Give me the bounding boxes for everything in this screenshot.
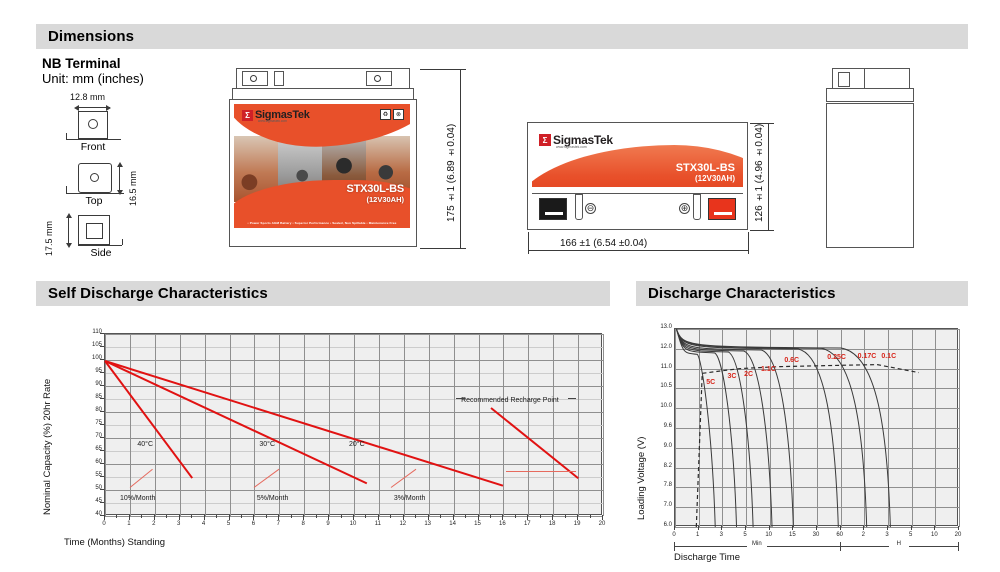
self-discharge-x-tick-label: 1 — [121, 521, 137, 527]
self-discharge-x-tick — [478, 515, 479, 520]
x-group-cap-1 — [840, 542, 841, 551]
rear-vent — [838, 72, 850, 87]
self-discharge-x-minor-tick — [341, 515, 342, 518]
terminal-top-hole — [90, 173, 99, 182]
x-group-cap-0 — [674, 542, 675, 551]
front-vent-left-hole — [250, 75, 257, 82]
self-discharge-y-tick — [100, 502, 104, 503]
section-title-dimensions: Dimensions — [36, 28, 134, 45]
battery-side-view: Σ SigmasTek www.sigmastek.com STX30L-BS … — [527, 122, 748, 230]
self-discharge-x-tick-label: 14 — [445, 521, 461, 527]
self-discharge-x-tick-label: 18 — [544, 521, 560, 527]
self-discharge-y-tick — [100, 372, 104, 373]
terminal-top-base-line — [66, 193, 124, 194]
self-discharge-x-tick-label: 9 — [320, 521, 336, 527]
nb-terminal-unit: Unit: mm (inches) — [42, 71, 144, 87]
self-discharge-y-tick — [100, 411, 104, 412]
terminal-height-label: 17.5 mm — [44, 210, 54, 256]
terminal-view-label-top: Top — [66, 195, 122, 207]
self-discharge-y-tick-label: 50 — [84, 485, 102, 491]
terminal-depth-dim-line — [119, 165, 120, 191]
self-discharge-x-tick-label: 7 — [270, 521, 286, 527]
discharge-curve-5C — [676, 329, 715, 527]
discharge-curve-2C — [676, 329, 753, 527]
discharge-label-0.17C: 0.17C — [858, 353, 877, 360]
terminal-front-base-edge — [66, 133, 67, 139]
terminal-front-hole — [88, 119, 98, 129]
self-discharge-y-tick-label: 75 — [84, 420, 102, 426]
front-vent-right-hole — [374, 75, 381, 82]
discharge-x-tick — [911, 526, 912, 530]
discharge-x-axis-title: Discharge Time — [674, 552, 740, 563]
discharge-chart: 5C3C2C1.1C0.6C0.25C0.17C0.1C Loading Vol… — [636, 320, 968, 570]
sigma-logo-icon-side: Σ — [539, 134, 551, 146]
positive-terminal-block — [708, 198, 736, 220]
discharge-x-tick-label: 15 — [783, 532, 801, 538]
self-discharge-plot-area: 40°C30°C20°C10%/Month5%/Month3%/MonthRec… — [104, 333, 602, 515]
self-discharge-x-tick-label: 10 — [345, 521, 361, 527]
front-rib — [274, 71, 284, 86]
self-discharge-x-tick — [428, 515, 429, 520]
discharge-y-tick-label: 6.0 — [648, 522, 672, 528]
self-discharge-y-tick-label: 105 — [84, 342, 102, 348]
front-height-dim-line — [460, 70, 461, 248]
self-discharge-x-tick — [378, 515, 379, 520]
self-discharge-gridline-x — [429, 334, 430, 516]
self-discharge-x-tick — [527, 515, 528, 520]
self-discharge-gridline-x — [503, 334, 504, 516]
recycle-icon: ♻ — [380, 109, 391, 120]
x-group-cap-2 — [958, 542, 959, 551]
discharge-x-tick — [816, 526, 817, 530]
discharge-x-tick — [721, 526, 722, 530]
side-post-left — [575, 194, 583, 220]
discharge-label-5C: 5C — [706, 379, 715, 386]
self-discharge-y-tick-label: 70 — [84, 433, 102, 439]
self-discharge-y-tick — [100, 450, 104, 451]
side-model-spec: (12V30AH) — [676, 174, 735, 183]
discharge-label-3C: 3C — [728, 373, 737, 380]
rear-collar — [826, 88, 914, 102]
self-discharge-chart: 40°C30°C20°C10%/Month5%/Month3%/MonthRec… — [36, 325, 610, 555]
self-discharge-x-minor-tick — [590, 515, 591, 518]
self-discharge-x-minor-tick — [216, 515, 217, 518]
discharge-x-tick-label: 10 — [760, 532, 778, 538]
self-discharge-x-tick — [253, 515, 254, 520]
self-discharge-gridline-x — [180, 334, 181, 516]
discharge-y-tick-label: 10.5 — [648, 383, 672, 389]
self-discharge-x-minor-tick — [515, 515, 516, 518]
self-discharge-x-tick — [303, 515, 304, 520]
self-discharge-x-minor-tick — [241, 515, 242, 518]
rate-leader-1 — [130, 469, 153, 488]
self-discharge-x-minor-tick — [415, 515, 416, 518]
discharge-y-axis-title: Loading Voltage (V) — [636, 350, 647, 520]
self-discharge-x-minor-tick — [465, 515, 466, 518]
side-post-right — [693, 194, 701, 220]
self-discharge-x-tick-label: 16 — [494, 521, 510, 527]
terminal-side-base-line — [78, 245, 122, 246]
recharge-pointer-line — [506, 471, 576, 472]
discharge-x-tick-label: 20 — [949, 532, 967, 538]
self-discharge-gridline-x — [279, 334, 280, 516]
discharge-x-tick — [887, 526, 888, 530]
self-discharge-x-minor-tick — [141, 515, 142, 518]
self-discharge-x-minor-tick — [266, 515, 267, 518]
self-discharge-gridline-x — [479, 334, 480, 516]
self-discharge-gridline-x — [130, 334, 131, 516]
self-discharge-annotation-2: 30°C — [259, 441, 275, 448]
self-discharge-x-tick-label: 17 — [519, 521, 535, 527]
discharge-label-0.25C: 0.25C — [827, 354, 846, 361]
self-discharge-y-tick — [100, 346, 104, 347]
section-header-discharge: Discharge Characteristics — [636, 281, 968, 306]
self-discharge-y-tick — [100, 463, 104, 464]
self-discharge-x-tick — [179, 515, 180, 520]
terminal-top-base-edge — [66, 186, 67, 193]
self-discharge-gridline-x — [553, 334, 554, 516]
self-discharge-gridline-x — [603, 334, 604, 516]
section-header-dimensions: Dimensions — [36, 24, 968, 49]
discharge-curves-layer — [675, 329, 959, 527]
self-discharge-y-tick-label: 100 — [84, 355, 102, 361]
front-brand-url: www.sigmastek.com — [258, 119, 287, 123]
discharge-curve-3C — [676, 329, 736, 527]
self-discharge-y-tick — [100, 398, 104, 399]
section-header-self-discharge: Self Discharge Characteristics — [36, 281, 610, 306]
side-shelf-line — [532, 193, 743, 194]
self-discharge-x-minor-tick — [365, 515, 366, 518]
self-discharge-y-tick-label: 65 — [84, 446, 102, 452]
self-discharge-y-tick-label: 90 — [84, 381, 102, 387]
nb-terminal-title: NB Terminal — [42, 56, 144, 71]
terminal-depth-arrow-up — [117, 162, 123, 167]
self-discharge-y-tick-label: 85 — [84, 394, 102, 400]
side-depth-dim-line — [768, 124, 769, 230]
discharge-y-tick-label: 7.0 — [648, 502, 672, 508]
terminal-side-base-edge — [122, 239, 123, 245]
self-discharge-y-axis-title: Nominal Capacity (%) 20hr Rate — [42, 339, 53, 515]
self-discharge-x-tick-label: 6 — [245, 521, 261, 527]
self-discharge-x-tick — [278, 515, 279, 520]
discharge-x-tick — [674, 526, 675, 530]
side-width-ext-right — [748, 232, 749, 254]
side-width-ext-left — [528, 232, 529, 254]
battery-rear-view — [824, 68, 916, 250]
battery-front-view: Σ SigmasTek www.sigmastek.com ♻ ⊗ STX30L… — [228, 68, 418, 250]
self-discharge-gridline-x — [155, 334, 156, 516]
discharge-gridline-y — [675, 527, 959, 528]
self-discharge-x-tick — [453, 515, 454, 520]
self-discharge-x-minor-tick — [440, 515, 441, 518]
self-discharge-x-tick — [353, 515, 354, 520]
self-discharge-x-tick — [129, 515, 130, 520]
negative-terminal-block — [539, 198, 567, 220]
front-product-label: Σ SigmasTek www.sigmastek.com ♻ ⊗ STX30L… — [234, 104, 410, 228]
self-discharge-x-tick-label: 4 — [196, 521, 212, 527]
self-discharge-x-minor-tick — [490, 515, 491, 518]
self-discharge-y-tick-label: 110 — [84, 329, 102, 335]
discharge-x-tick — [769, 526, 770, 530]
front-height-ext-bottom — [420, 248, 466, 249]
side-depth-ext-bottom — [750, 230, 774, 231]
self-discharge-y-tick — [100, 476, 104, 477]
side-model-number: STX30L-BS — [676, 162, 735, 174]
self-discharge-x-tick-label: 13 — [420, 521, 436, 527]
side-depth-label: 126 ±1 (4.96 ±0.04) — [754, 138, 765, 222]
discharge-x-tick-label: 10 — [925, 532, 943, 538]
nb-terminal-heading: NB Terminal Unit: mm (inches) — [42, 56, 144, 87]
front-height-label: 175 ±1 (6.89 ±0.04) — [446, 112, 457, 222]
self-discharge-y-tick — [100, 359, 104, 360]
self-discharge-x-minor-tick — [191, 515, 192, 518]
discharge-y-tick-label: 7.8 — [648, 482, 672, 488]
negative-terminal-bar — [545, 212, 563, 215]
self-discharge-y-tick — [100, 437, 104, 438]
side-model-block: STX30L-BS (12V30AH) — [676, 162, 735, 183]
self-discharge-x-tick-label: 3 — [171, 521, 187, 527]
terminal-view-label-side: Side — [74, 247, 128, 259]
self-discharge-x-tick — [502, 515, 503, 520]
discharge-x-tick-label: 0 — [665, 532, 683, 538]
self-discharge-x-minor-tick — [390, 515, 391, 518]
discharge-plot-area: 5C3C2C1.1C0.6C0.25C0.17C0.1C — [674, 328, 958, 526]
discharge-y-tick-label: 9.6 — [648, 423, 672, 429]
self-discharge-y-tick — [100, 385, 104, 386]
self-discharge-y-tick-label: 55 — [84, 472, 102, 478]
self-discharge-gridline-x — [454, 334, 455, 516]
self-discharge-x-tick — [328, 515, 329, 520]
discharge-label-0.6C: 0.6C — [784, 357, 799, 364]
spec-sheet-page: Dimensions NB Terminal Unit: mm (inches)… — [0, 0, 1000, 572]
self-discharge-annotation-3: 20°C — [349, 441, 365, 448]
self-discharge-y-tick-label: 60 — [84, 459, 102, 465]
self-discharge-x-tick — [403, 515, 404, 520]
self-discharge-gridline-x — [329, 334, 330, 516]
terminal-front-base-line — [66, 139, 121, 140]
terminal-side-inner — [86, 223, 103, 239]
self-discharge-y-tick-label: 95 — [84, 368, 102, 374]
terminal-height-arrow-down — [66, 243, 72, 248]
discharge-x-tick — [934, 526, 935, 530]
self-discharge-x-tick-label: 15 — [470, 521, 486, 527]
self-discharge-x-tick-label: 0 — [96, 521, 112, 527]
self-discharge-y-tick — [100, 424, 104, 425]
discharge-x-tick — [840, 526, 841, 530]
self-discharge-x-tick — [154, 515, 155, 520]
x-group-label-min: Min — [747, 541, 767, 547]
discharge-y-tick-label: 9.0 — [648, 443, 672, 449]
discharge-x-tick — [745, 526, 746, 530]
self-discharge-annotation-6: 3%/Month — [394, 495, 426, 502]
self-discharge-x-minor-tick — [540, 515, 541, 518]
rear-body — [826, 103, 914, 248]
self-discharge-gridline-x — [254, 334, 255, 516]
self-discharge-x-minor-tick — [166, 515, 167, 518]
front-tagline: • Power Sports AGM Battery • Superior Pe… — [234, 218, 410, 228]
terminal-width-dim-line — [76, 107, 110, 108]
side-width-label: 166 ±1 (6.54 ±0.04) — [560, 238, 647, 249]
self-discharge-x-tick — [577, 515, 578, 520]
side-product-label: Σ SigmasTek www.sigmastek.com STX30L-BS … — [532, 127, 743, 187]
positive-polarity-icon: ⊕ — [679, 203, 690, 214]
discharge-y-tick-label: 10.0 — [648, 403, 672, 409]
front-model-number: STX30L-BS — [347, 183, 405, 195]
self-discharge-annotation-1: 40°C — [137, 441, 153, 448]
self-discharge-x-tick-label: 2 — [146, 521, 162, 527]
self-discharge-gridline-x — [528, 334, 529, 516]
self-discharge-x-tick — [104, 515, 105, 520]
self-discharge-x-minor-tick — [291, 515, 292, 518]
discharge-x-tick-label: 2 — [854, 532, 872, 538]
self-discharge-gridline-x — [230, 334, 231, 516]
self-discharge-x-tick-label: 8 — [295, 521, 311, 527]
discharge-x-tick — [698, 526, 699, 530]
discharge-x-tick-label: 30 — [807, 532, 825, 538]
discharge-label-1.1C: 1.1C — [761, 366, 776, 373]
self-discharge-annotation-5: 5%/Month — [257, 495, 289, 502]
discharge-gridline-x — [959, 329, 960, 527]
terminal-depth-arrow-down — [117, 190, 123, 195]
self-discharge-x-tick-label: 5 — [221, 521, 237, 527]
front-height-ext-top — [420, 69, 466, 70]
discharge-x-tick — [792, 526, 793, 530]
self-discharge-x-tick-label: 20 — [594, 521, 610, 527]
self-discharge-x-tick-label: 11 — [370, 521, 386, 527]
self-discharge-annotation-7: Recommended Recharge Point — [461, 397, 559, 404]
discharge-x-tick-label: 5 — [736, 532, 754, 538]
side-brand-url: www.sigmastek.com — [556, 145, 587, 149]
self-discharge-gridline-y — [105, 516, 603, 517]
discharge-x-tick-label: 5 — [902, 532, 920, 538]
discharge-x-tick-label: 3 — [712, 532, 730, 538]
self-discharge-x-tick-label: 19 — [569, 521, 585, 527]
self-discharge-x-minor-tick — [116, 515, 117, 518]
self-discharge-gridline-x — [205, 334, 206, 516]
self-discharge-curve-2 — [105, 360, 367, 484]
self-discharge-x-tick — [602, 515, 603, 520]
terminal-width-arrow-right — [106, 105, 111, 111]
discharge-curve-1.1C — [676, 329, 772, 527]
self-discharge-x-minor-tick — [565, 515, 566, 518]
discharge-y-tick-label: 11.0 — [648, 364, 672, 370]
sigma-logo-icon: Σ — [242, 110, 253, 121]
terminal-width-label: 12.8 mm — [70, 92, 105, 102]
terminal-view-label-front: Front — [66, 141, 120, 153]
discharge-label-2C: 2C — [744, 371, 753, 378]
discharge-y-tick-label: 8.2 — [648, 463, 672, 469]
self-discharge-x-minor-tick — [316, 515, 317, 518]
rear-lid-seam — [864, 68, 865, 90]
terminal-height-dim-line — [68, 216, 69, 244]
discharge-x-tick-label: 1 — [689, 532, 707, 538]
terminal-depth-label: 16.5 mm — [128, 160, 138, 206]
front-model-spec: (12V30AH) — [347, 195, 405, 204]
self-discharge-gridline-x — [578, 334, 579, 516]
terminal-height-arrow-up — [66, 213, 72, 218]
discharge-x-tick — [958, 526, 959, 530]
discharge-y-tick-label: 13.0 — [648, 324, 672, 330]
self-discharge-x-tick-label: 12 — [395, 521, 411, 527]
self-discharge-gridline-x — [404, 334, 405, 516]
self-discharge-x-tick — [204, 515, 205, 520]
self-discharge-x-axis-title: Time (Months) Standing — [64, 537, 165, 548]
section-title-discharge: Discharge Characteristics — [636, 285, 836, 302]
discharge-x-tick-label: 60 — [831, 532, 849, 538]
section-title-self-discharge: Self Discharge Characteristics — [36, 285, 268, 302]
discharge-label-0.1C: 0.1C — [881, 353, 896, 360]
discharge-x-tick-label: 3 — [878, 532, 896, 538]
self-discharge-y-tick — [100, 333, 104, 334]
self-discharge-annotation-4: 10%/Month — [120, 495, 155, 502]
self-discharge-y-tick-label: 40 — [84, 511, 102, 517]
negative-polarity-icon: ⊖ — [585, 203, 596, 214]
front-model-block: STX30L-BS (12V30AH) — [347, 183, 405, 204]
self-discharge-gridline-x — [354, 334, 355, 516]
self-discharge-y-tick-label: 80 — [84, 407, 102, 413]
waste-bin-icon: ⊗ — [393, 109, 404, 120]
self-discharge-x-tick — [552, 515, 553, 520]
terminal-width-arrow-left — [74, 105, 79, 111]
recharge-bracket-right — [568, 398, 576, 399]
discharge-y-tick-label: 12.0 — [648, 344, 672, 350]
x-group-label-hour: H — [889, 541, 909, 547]
front-label-icon-group: ♻ ⊗ — [380, 109, 404, 120]
side-width-dim-line — [528, 250, 748, 251]
discharge-x-tick — [863, 526, 864, 530]
self-discharge-y-tick-label: 45 — [84, 498, 102, 504]
recharge-bracket-left — [456, 398, 464, 399]
self-discharge-x-tick — [229, 515, 230, 520]
positive-terminal-bar — [714, 212, 732, 215]
rate-leader-2 — [254, 469, 279, 488]
self-discharge-y-tick — [100, 489, 104, 490]
self-discharge-gridline-x — [379, 334, 380, 516]
